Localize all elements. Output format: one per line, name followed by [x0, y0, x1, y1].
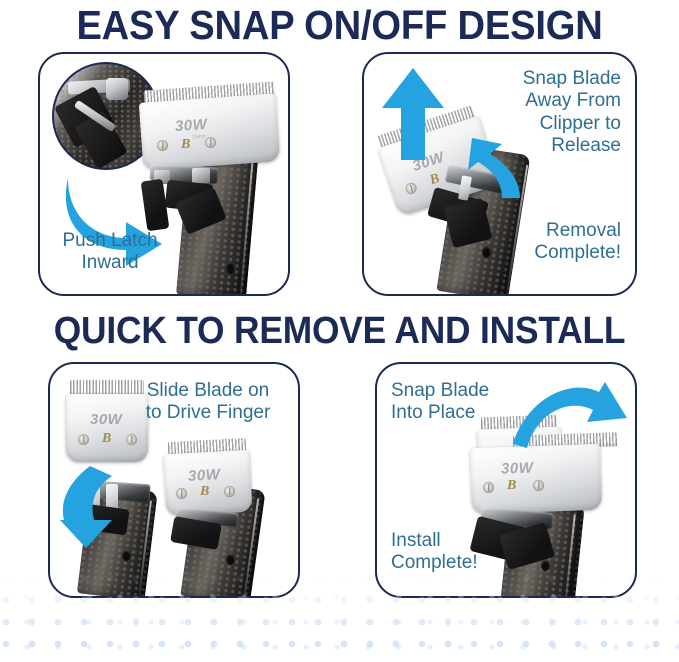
snap-away-up-arrow [380, 68, 446, 160]
page-title-quick-remove: QUICK TO REMOVE AND INSTALL [24, 312, 655, 350]
blade-screw-right [126, 434, 137, 445]
caption-removal-complete: Removal Complete! [461, 220, 621, 265]
slide-blade-down-arrow [60, 466, 124, 550]
brand-logo: B [200, 484, 209, 500]
blade-engraving-assembled: 30W [188, 466, 221, 485]
blade-engraving: 30W [174, 116, 207, 135]
caption-push-latch: Push Latch Inward [46, 230, 174, 275]
panel-push-latch: 30W 25mm B Push Latch Inward [38, 52, 290, 296]
blade-screw-right [224, 486, 235, 497]
blade-screw-left [78, 434, 89, 445]
blade-size-label: 25mm [192, 134, 206, 141]
blade-screw-left [157, 140, 168, 151]
blade-screw-right [533, 480, 544, 491]
panel-slide-blade: 30W B 30W B Slide Blade on to Drive Fing… [48, 362, 300, 598]
caption-slide-blade: Slide Blade on to Drive Finger [124, 380, 292, 425]
blade-screw-left [176, 488, 187, 499]
caption-install-complete: Install Complete! [391, 530, 541, 575]
brand-logo: B [102, 431, 111, 447]
blade-engraving: 30W [90, 411, 122, 428]
brand-logo: B [507, 478, 516, 494]
brand-logo: B [181, 137, 190, 153]
panel-snap-place: 30W B Snap Blade Into Place Install Comp… [375, 362, 637, 598]
blade-engraving: 30W [501, 459, 534, 477]
caption-snap-place: Snap Blade Into Place [391, 380, 541, 425]
blade-screw-right [205, 137, 216, 148]
blade-screw-left [483, 482, 494, 493]
page-title-easy-snap: EASY SNAP ON/OFF DESIGN [24, 5, 655, 46]
caption-snap-away: Snap Blade Away From Clipper to Release [461, 68, 621, 158]
panel-snap-away: 30W B Snap Blade Away From Clipper to Re… [362, 52, 637, 296]
